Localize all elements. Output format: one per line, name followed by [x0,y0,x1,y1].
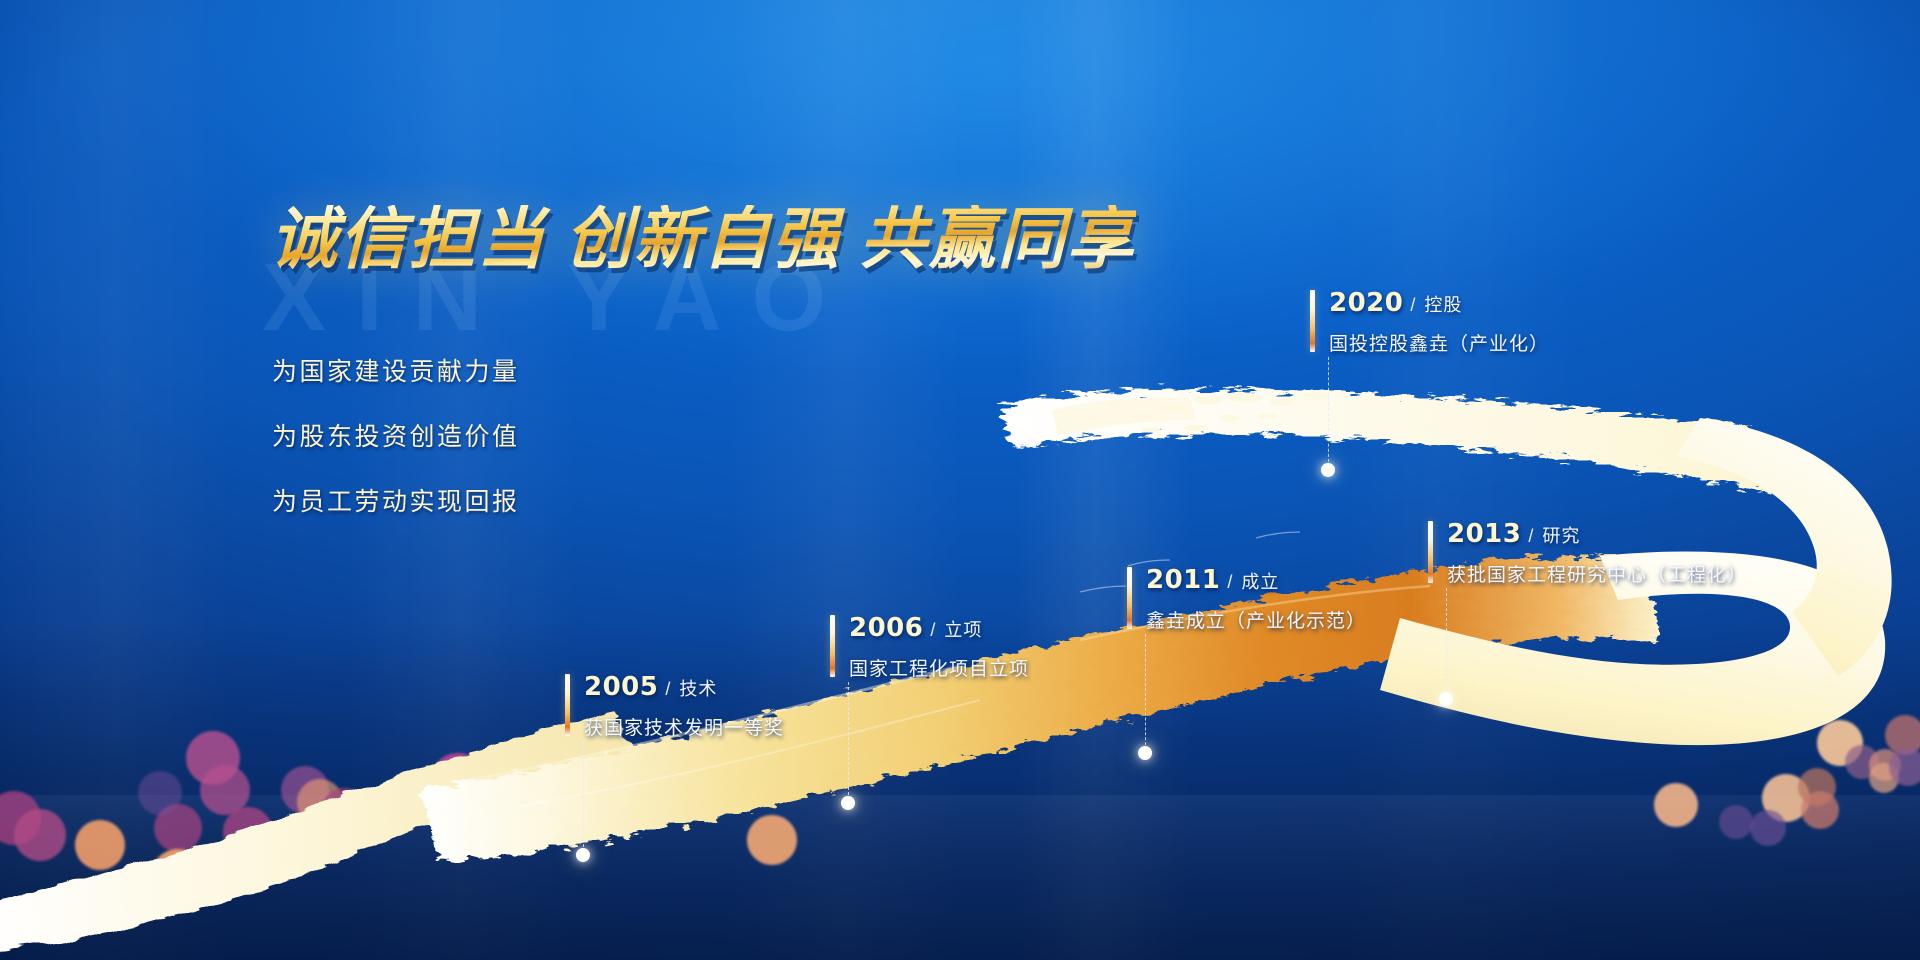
timeline-connector-line [1145,634,1146,750]
bokeh-circle-left [445,787,495,837]
mission-line: 为国家建设贡献力量 [272,352,520,388]
timeline-separator: / [930,620,935,641]
bokeh-circle-left [223,807,273,857]
timeline-point-marker[interactable] [1138,746,1152,760]
bokeh-circle-left [632,767,678,813]
timeline-year: 2013 [1447,519,1521,549]
timeline-separator: / [1227,572,1232,593]
bokeh-circle-left [321,788,369,836]
timeline-tag: 立项 [944,616,982,642]
timeline-accent-bar [565,674,570,736]
timeline-year: 2005 [584,672,658,702]
timeline-separator: / [1410,295,1415,316]
timeline-milestone[interactable]: 2020/控股国投控股鑫垚（产业化） [1310,288,1549,356]
timeline-description: 国投控股鑫垚（产业化） [1329,329,1549,356]
mission-statement-list: 为国家建设贡献力量 为股东投资创造价值 为员工劳动实现回报 [272,352,520,518]
bokeh-circle-left [747,815,797,865]
timeline-point-marker[interactable] [1439,692,1453,706]
timeline-accent-bar [1310,290,1315,352]
bokeh-circle-left [75,820,125,870]
timeline-tag: 控股 [1424,291,1462,317]
timeline-accent-bar [830,615,835,677]
mission-line: 为员工劳动实现回报 [272,482,520,518]
timeline-tag: 研究 [1542,522,1580,548]
timeline-separator: / [1528,526,1533,547]
timeline-description: 获国家技术发明一等奖 [584,713,784,740]
bokeh-circle-left [508,781,562,835]
timeline-accent-bar [1127,567,1132,629]
timeline-point-marker[interactable] [1321,463,1335,477]
banner-canvas: XIN YAO [0,0,1920,960]
timeline-milestone[interactable]: 2013/研究获批国家工程研究中心（工程化） [1428,519,1747,587]
timeline-description: 鑫垚成立（产业化示范） [1146,606,1366,633]
bokeh-circle-right [1889,748,1920,786]
timeline-connector-line [583,740,584,852]
timeline-tag: 成立 [1241,568,1279,594]
timeline-milestone[interactable]: 2006/立项国家工程化项目立项 [830,613,1029,681]
timeline-connector-line [1328,357,1329,467]
bokeh-circle-right [1801,791,1839,829]
bokeh-circle-right [1654,783,1698,827]
timeline-year: 2006 [849,613,923,643]
timeline-point-marker[interactable] [841,796,855,810]
timeline-year: 2020 [1329,288,1403,318]
timeline-point-marker[interactable] [576,848,590,862]
bokeh-circle-left [14,809,66,861]
timeline-description: 国家工程化项目立项 [849,654,1029,681]
timeline-year: 2011 [1146,565,1220,595]
bokeh-circle-left [151,849,205,903]
timeline-milestone[interactable]: 2005/技术获国家技术发明一等奖 [565,672,784,740]
timeline-separator: / [665,679,670,700]
timeline-tag: 技术 [679,675,717,701]
bokeh-circle-right [1719,805,1753,839]
timeline-connector-line [1446,588,1447,696]
timeline-milestone[interactable]: 2011/成立鑫垚成立（产业化示范） [1127,565,1366,633]
timeline-connector-line [848,682,849,800]
bokeh-circle-left [138,771,182,815]
timeline-accent-bar [1428,521,1433,583]
mission-line: 为股东投资创造价值 [272,417,520,453]
bokeh-circle-right [1750,810,1786,846]
timeline-description: 获批国家工程研究中心（工程化） [1447,560,1747,587]
page-title: 诚信担当 创新自强 共赢同享 [270,205,1136,275]
